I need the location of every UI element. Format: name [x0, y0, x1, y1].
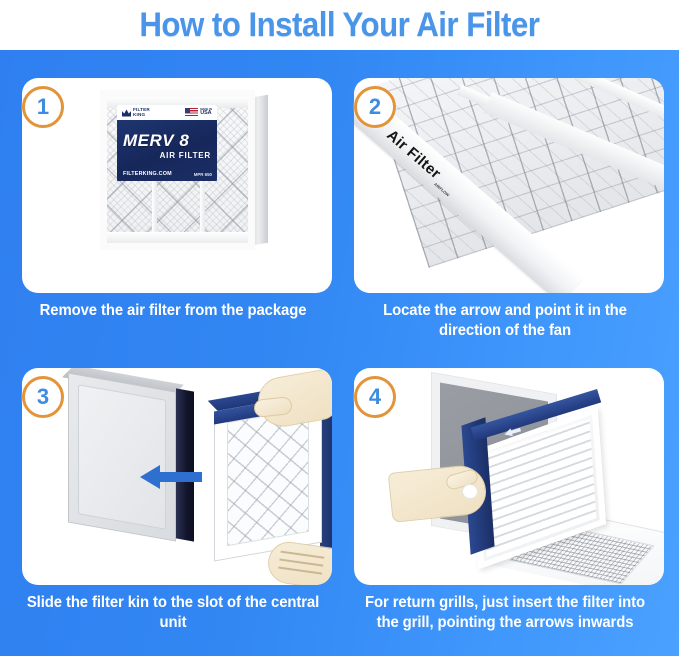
step-3: 3 Slide the filter kin to the slot of th… — [14, 368, 332, 656]
usa-flag-icon — [185, 108, 198, 116]
filter-diamond-mesh — [227, 408, 309, 546]
grill-latch-knob — [462, 484, 478, 499]
crown-icon — [122, 109, 131, 117]
mpr-rating: MPR 650 — [194, 172, 212, 177]
made-in-country: USA — [200, 110, 211, 116]
step-4-caption: For return grills, just insert the filte… — [352, 593, 657, 634]
step-4-illustration — [354, 368, 664, 585]
step-2-illustration: Air Filter AIRFLOW — [354, 78, 664, 293]
label-header-strip: FILTER KING MADE IN USA — [117, 105, 217, 120]
step-4-number: 4 — [369, 386, 381, 408]
filter-front-face: FILTER KING MADE IN USA — [100, 90, 255, 250]
merv-rating: MERV 8 — [123, 132, 211, 149]
step-2: Air Filter AIRFLOW 2 Locate the arrow an… — [346, 78, 664, 368]
direction-arrow-icon — [140, 464, 202, 490]
step-1-badge: 1 — [22, 86, 64, 128]
website-url: FILTERKING.COM — [123, 171, 172, 177]
page-title: How to Install Your Air Filter — [140, 6, 540, 45]
brand-line-2: KING — [133, 113, 150, 118]
step-2-caption: Locate the arrow and point it in the dir… — [352, 301, 657, 342]
brand-name: FILTER KING — [133, 108, 150, 118]
step-3-illustration — [22, 368, 332, 585]
step-3-card — [22, 368, 332, 585]
made-in-usa-text: MADE IN USA — [200, 108, 212, 116]
step-2-badge: 2 — [354, 86, 396, 128]
filter-product-label: FILTER KING MADE IN USA — [117, 105, 217, 181]
infographic-page: How to Install Your Air Filter — [0, 0, 679, 656]
step-1-caption: Remove the air filter from the package — [20, 301, 325, 321]
hand-lower — [265, 539, 332, 585]
step-2-card: Air Filter AIRFLOW — [354, 78, 664, 293]
step-4: 4 For return grills, just insert the fil… — [346, 368, 664, 656]
step-1: FILTER KING MADE IN USA — [14, 78, 332, 368]
step-1-card: FILTER KING MADE IN USA — [22, 78, 332, 293]
product-type: AIR FILTER — [123, 151, 211, 160]
step-3-badge: 3 — [22, 376, 64, 418]
label-footer: FILTERKING.COM MPR 650 — [123, 171, 212, 177]
filter-bottom-edge — [107, 232, 248, 243]
step-3-caption: Slide the filter kin to the slot of the … — [20, 593, 325, 634]
filter-king-logo: FILTER KING — [122, 108, 150, 118]
step-2-number: 2 — [369, 96, 381, 118]
step-4-card — [354, 368, 664, 585]
central-unit-panel — [78, 384, 166, 530]
step-1-illustration: FILTER KING MADE IN USA — [22, 78, 332, 293]
title-banner: How to Install Your Air Filter — [0, 0, 679, 50]
step-3-number: 3 — [37, 386, 49, 408]
frame-airflow-subtext: AIRFLOW — [433, 181, 450, 197]
made-in-usa-badge: MADE IN USA — [185, 108, 212, 116]
central-unit-housing — [68, 372, 176, 541]
steps-grid: FILTER KING MADE IN USA — [0, 50, 679, 656]
step-1-number: 1 — [37, 96, 49, 118]
step-4-badge: 4 — [354, 376, 396, 418]
air-filter-product-image: FILTER KING MADE IN USA — [100, 90, 268, 250]
